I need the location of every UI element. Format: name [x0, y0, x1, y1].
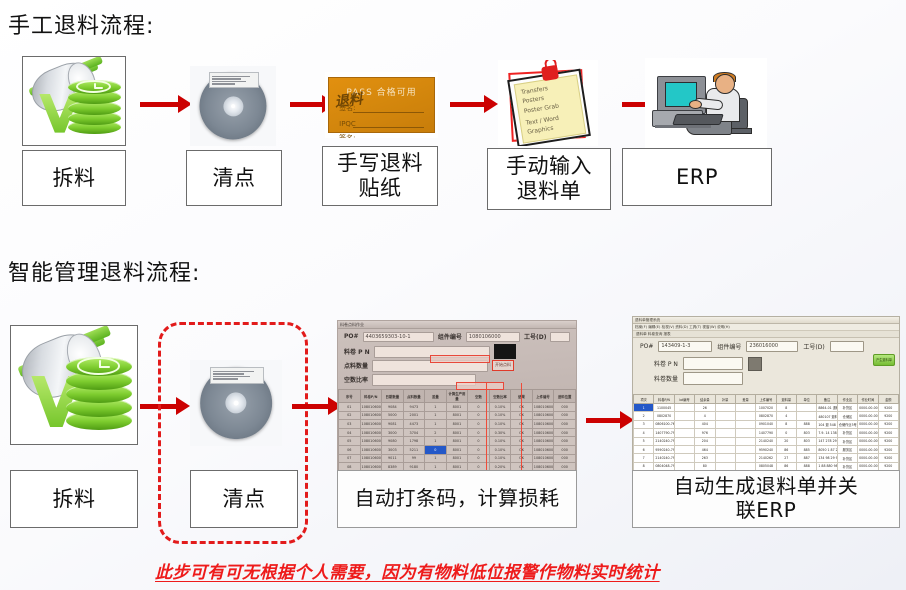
table-cell: 1080106003	[532, 428, 554, 437]
table-cell: 8050 1 87 2 97 1 98 548	[817, 445, 837, 453]
counting-assembly-label: 组件编号	[438, 332, 462, 341]
table-cell: 3704	[403, 428, 425, 437]
table-header-cell: 送料位置	[554, 390, 576, 403]
erp-po-label: PO#	[640, 343, 653, 350]
erp-qty-label: 料卷数量	[654, 374, 678, 383]
table-cell	[735, 404, 755, 412]
table-cell: 0802870	[654, 412, 674, 420]
table-cell: 4	[634, 429, 654, 437]
table-cell: 147 278 291 297 228 548	[817, 437, 837, 445]
table-cell: 9200	[878, 454, 899, 462]
table-cell	[674, 420, 694, 428]
table-cell: 8001	[446, 420, 468, 429]
table-cell: 803	[797, 429, 817, 437]
table-cell	[735, 454, 755, 462]
table-row[interactable]: 41407790-79019976140779008037.9. 14 138 …	[634, 429, 899, 437]
table-cell: 1080106005	[532, 445, 554, 454]
table-cell: 1080106003	[360, 428, 382, 437]
table-cell: 263	[695, 454, 715, 462]
counting-worker-label: 工号(D)	[524, 332, 546, 341]
table-cell: 803	[797, 437, 817, 445]
manual-step-5-image	[645, 58, 767, 148]
table-cell: 404	[695, 420, 715, 428]
table-cell: 9081	[382, 420, 404, 429]
table-cell: 7	[634, 454, 654, 462]
manual-step-3-label: 手写退料 贴纸	[322, 146, 438, 206]
manual-flow-title: 手工退料流程:	[8, 8, 154, 40]
smart-flow-title: 智能管理退料流程:	[8, 255, 200, 287]
table-cell	[715, 429, 735, 437]
table-cell	[735, 429, 755, 437]
table-cell	[735, 412, 755, 420]
table-cell: 1080106006	[360, 454, 382, 463]
table-cell: 0000-00-00 00:00	[858, 404, 878, 412]
table-cell: 99	[403, 454, 425, 463]
table-cell: 4473	[403, 420, 425, 429]
table-cell: 1080106005	[360, 445, 382, 454]
erp-app-screenshot: 退料单管理系统 档案(F) 编辑(E) 检视(V) 资料(D) 工具(T) 视窗…	[632, 316, 900, 478]
table-cell: 4	[776, 412, 796, 420]
table-cell	[797, 412, 817, 420]
table-cell: 8001	[446, 454, 468, 463]
table-cell: 9473	[403, 403, 425, 412]
slide-canvas: 手工退料流程: 拆料 清点 PASS 合格可用	[0, 0, 906, 590]
table-row[interactable]: 041080106003300037042800100.30%OK1080106…	[339, 428, 576, 437]
table-cell: 0901040	[756, 420, 776, 428]
table-row[interactable]: 52140240-79018204214024020803147 278 291…	[634, 437, 899, 445]
sticker-line3-label: 签名:	[339, 133, 355, 138]
counting-app-titlebar: 料卷点料作业	[338, 321, 576, 329]
manual-step-5-label: ERP	[622, 148, 772, 206]
erp-assembly-value[interactable]: 236016000	[746, 341, 798, 352]
table-header-cell: 单位	[797, 395, 817, 404]
table-cell: 9011	[382, 454, 404, 463]
table-cell: 000	[554, 445, 576, 454]
table-cell: 1080106004	[532, 437, 554, 446]
counting-table-header-row: 序号料卷P/N日期数量点料数量差量计算生产用量空数空数比率结果上件编号送料位置	[339, 390, 576, 403]
erp-pn-label: 料卷 P N	[654, 359, 678, 368]
table-header-cell: 作业时间	[858, 395, 878, 404]
table-cell: 2001	[403, 411, 425, 420]
table-cell: 1	[425, 411, 447, 420]
table-cell: 0000-00-00 00:00	[858, 429, 878, 437]
table-header-cell: 上件编号	[532, 390, 554, 403]
manual-step-2-image	[190, 66, 276, 146]
table-cell: 补货区	[837, 404, 857, 412]
table-cell: 000	[554, 437, 576, 446]
table-cell: 464	[695, 445, 715, 453]
table-cell: 9200	[878, 437, 899, 445]
table-cell: 1	[425, 420, 447, 429]
table-cell	[715, 454, 735, 462]
table-row[interactable]: 051080106004908017981800100.10%OK1080106…	[339, 437, 576, 446]
table-cell: 6	[634, 445, 654, 453]
counting-highlight-column	[486, 383, 522, 477]
table-cell	[715, 420, 735, 428]
table-cell: 1080106001	[532, 411, 554, 420]
erp-tabrow[interactable]: 退料单 料卷查询 报表	[633, 331, 899, 338]
counting-ratio-label: 空数比率	[344, 375, 368, 384]
sticker-line1-label: 签名:	[339, 103, 355, 113]
table-header-cell: 料卷P/N	[654, 395, 674, 404]
sticker-line2-label: IPQC	[339, 120, 356, 128]
table-row[interactable]: 20802870408028704480107 退料仓储区0000-00-00 …	[634, 412, 899, 420]
table-cell: 补货区	[837, 437, 857, 445]
table-cell: 86	[776, 445, 796, 453]
table-row[interactable]: 061080106005300352110800100.10%OK1080106…	[339, 445, 576, 454]
table-cell: 480107 退料	[817, 412, 837, 420]
manual-step-2-label: 清点	[186, 150, 282, 206]
table-header-cell: 金额	[878, 395, 899, 404]
table-cell: 885	[797, 445, 817, 453]
table-cell: 2140262	[756, 454, 776, 462]
table-cell: 27	[776, 454, 796, 462]
table-cell: 0000-00-00 00:00	[858, 412, 878, 420]
table-cell: 1080106006	[532, 454, 554, 463]
green-database-clock-icon	[23, 57, 125, 145]
table-cell: 2140240-79018	[654, 437, 674, 445]
table-cell	[735, 445, 755, 453]
table-cell: 104 退 548	[817, 420, 837, 428]
reel-photo	[190, 360, 282, 446]
erp-worker-label: 工号(D)	[803, 342, 824, 351]
table-cell: 7.9. 14 138 587-548	[817, 429, 837, 437]
table-header-cell: 退料量	[776, 395, 796, 404]
table-cell	[715, 412, 735, 420]
table-cell: 5	[634, 437, 654, 445]
table-cell: 1	[634, 404, 654, 412]
table-cell	[674, 412, 694, 420]
table-cell: 8	[776, 420, 796, 428]
table-cell	[674, 429, 694, 437]
table-cell: 0	[776, 429, 796, 437]
table-cell: 1100045	[654, 404, 674, 412]
table-cell: 9200	[878, 404, 899, 412]
erp-generate-button[interactable]: 产生退料单	[873, 354, 895, 366]
table-cell: 3000	[382, 428, 404, 437]
table-header-cell: 结余量	[695, 395, 715, 404]
counting-callout-1	[430, 355, 490, 363]
smart-step-1-label: 拆料	[10, 470, 138, 528]
table-cell	[735, 420, 755, 428]
table-row[interactable]: 021080106001500020011800100.10%OK1080106…	[339, 411, 576, 420]
table-cell: 9080	[382, 437, 404, 446]
table-header-cell: 差量	[425, 390, 447, 403]
table-header-cell: 作业区	[837, 395, 857, 404]
table-row[interactable]: 72140240-79666263214026227887134 98 29 9…	[634, 454, 899, 462]
table-cell: 仓储作业3号库	[837, 420, 857, 428]
table-header-cell: 差量	[735, 395, 755, 404]
erp-form: PO# 143409-1-3 组件编号 236016000 工号(D) 料卷 P…	[633, 338, 899, 394]
table-cell: 02	[339, 411, 361, 420]
table-cell: 5000	[382, 411, 404, 420]
table-cell: 887	[797, 454, 817, 462]
smart-step-1-image	[10, 325, 138, 445]
table-cell: 000	[554, 428, 576, 437]
table-cell: 0802870	[756, 412, 776, 420]
table-cell	[674, 445, 694, 453]
erp-table-header-row: 项次料卷P/Nlot编号结余量补量差量上件编号退料量单位备注作业区作业时间金额	[634, 395, 899, 404]
table-cell: 1080106002	[360, 420, 382, 429]
table-cell: 04	[339, 428, 361, 437]
table-cell: 1407790-79019	[654, 429, 674, 437]
table-cell: 2	[634, 412, 654, 420]
table-cell: 补货区	[837, 454, 857, 462]
table-cell: 0806100-76007	[654, 420, 674, 428]
table-cell	[715, 404, 735, 412]
smart-step-4-label: 自动生成退料单并关 联ERP	[632, 470, 900, 528]
erp-pn-value[interactable]	[683, 357, 743, 370]
counting-assembly-value[interactable]: 1080106000	[466, 332, 520, 342]
table-cell: 9200	[878, 445, 899, 453]
table-header-cell: 上件编号	[756, 395, 776, 404]
optional-step-note: 此步可有可无根据个人需要，因为有物料低位报警作物料实时统计	[155, 558, 660, 583]
counting-app-form: PO# 4403659303-10-1 组件编号 1080106000 工号(D…	[338, 329, 576, 389]
smart-step-2-image	[190, 360, 282, 446]
green-database-clock-icon	[11, 326, 137, 444]
table-cell: 0000-00-00 00:00	[858, 420, 878, 428]
table-cell: 06	[339, 445, 361, 454]
table-cell: 000	[554, 454, 576, 463]
table-row[interactable]: 1110004526100702088864-01 退料 9-548补货区000…	[634, 404, 899, 412]
table-cell: 1080106004	[360, 437, 382, 446]
table-row[interactable]: 011080106000908494731800100.10%OK1080106…	[339, 403, 576, 412]
table-cell: 000	[554, 411, 576, 420]
erp-po-value[interactable]: 143409-1-3	[658, 341, 712, 352]
table-cell: 仓储区	[837, 412, 857, 420]
reel-photo	[190, 66, 276, 146]
table-row[interactable]: 30806100-7600740409010408888104 退 548仓储作…	[634, 420, 899, 428]
table-cell: 0	[425, 445, 447, 454]
table-cell: 3003	[382, 445, 404, 454]
table-cell: 8864-01 退料 9-548	[817, 404, 837, 412]
person-at-computer-icon	[645, 58, 767, 148]
counting-table-body: 011080106000908494731800100.10%OK1080106…	[339, 403, 576, 479]
table-cell: 4	[695, 412, 715, 420]
counting-po-value[interactable]: 4403659303-10-1	[363, 332, 434, 342]
table-cell: 204	[695, 437, 715, 445]
table-cell	[715, 445, 735, 453]
table-cell: 888	[797, 420, 817, 428]
table-cell: 20	[776, 437, 796, 445]
table-cell: 9200	[878, 412, 899, 420]
table-cell: 服务区	[837, 445, 857, 453]
smart-step-2-label: 清点	[190, 470, 298, 528]
table-cell: 3	[634, 420, 654, 428]
table-header-cell: 计算生产用量	[446, 390, 468, 403]
table-cell: 1	[425, 454, 447, 463]
erp-assembly-label: 组件编号	[717, 342, 741, 351]
table-cell: 0000-00-00 00:00	[858, 454, 878, 462]
table-cell: 8001	[446, 445, 468, 454]
erp-menubar: 档案(F) 编辑(E) 检视(V) 资料(D) 工具(T) 视窗(W) 说明(H…	[633, 324, 899, 331]
table-cell: 05	[339, 437, 361, 446]
table-cell: 1080106001	[360, 411, 382, 420]
table-cell: 1407790	[756, 429, 776, 437]
erp-table-body: 1110004526100702088864-01 退料 9-548补货区000…	[634, 404, 899, 471]
table-cell: 9200	[878, 420, 899, 428]
erp-app-table[interactable]: 项次料卷P/Nlot编号结余量补量差量上件编号退料量单位备注作业区作业时间金额 …	[633, 394, 899, 471]
table-cell: 1080106000	[532, 403, 554, 412]
table-cell: 1007020	[756, 404, 776, 412]
table-cell: 2	[425, 428, 447, 437]
table-cell: 000	[554, 420, 576, 429]
table-cell: 9590240	[756, 445, 776, 453]
manual-step-1-label: 拆料	[22, 150, 126, 206]
table-cell: 9084	[382, 403, 404, 412]
orange-pass-sticker: PASS 合格可用 退料 签名: IPQC 签名:	[325, 72, 438, 138]
table-cell: 补货区	[837, 429, 857, 437]
table-cell: 5211	[403, 445, 425, 454]
manual-step-4-image: Transfers Posters Poster Grab Text / Wor…	[498, 60, 598, 146]
counting-qty-label: 点料数量	[344, 361, 368, 370]
smart-step-3-label: 自动打条码，计算损耗	[337, 470, 577, 528]
table-cell	[735, 437, 755, 445]
table-cell: 8001	[446, 428, 468, 437]
table-cell: 8	[776, 404, 796, 412]
table-cell: 9200	[878, 429, 899, 437]
table-header-cell: 备注	[817, 395, 837, 404]
table-cell: 1798	[403, 437, 425, 446]
table-cell: 01	[339, 403, 361, 412]
table-cell: 9590240-79009	[654, 445, 674, 453]
erp-titlebar: 退料单管理系统	[633, 317, 899, 324]
table-cell	[674, 454, 694, 462]
table-cell: 2140240-79666	[654, 454, 674, 462]
manual-step-3-image: PASS 合格可用 退料 签名: IPQC 签名:	[325, 72, 438, 138]
erp-lookup-button[interactable]	[748, 357, 762, 371]
manual-step-4-label: 手动输入 退料单	[487, 148, 611, 210]
table-cell: 03	[339, 420, 361, 429]
table-cell: 1080106000	[360, 403, 382, 412]
table-header-cell: 序号	[339, 390, 361, 403]
table-cell: 8001	[446, 411, 468, 420]
table-cell: 8001	[446, 403, 468, 412]
table-cell: 000	[554, 403, 576, 412]
table-header-cell: 项次	[634, 395, 654, 404]
table-cell	[715, 437, 735, 445]
manual-step-1-image	[22, 56, 126, 146]
table-row[interactable]: 69590240-790094649590240868858050 1 87 2…	[634, 445, 899, 453]
counting-app-table[interactable]: 序号料卷P/N日期数量点料数量差量计算生产用量空数空数比率结果上件编号送料位置 …	[338, 389, 576, 478]
table-header-cell: lot编号	[674, 395, 694, 404]
table-cell: 1	[425, 403, 447, 412]
table-cell: 0000-00-00 00:00	[858, 445, 878, 453]
table-cell: 8001	[446, 437, 468, 446]
table-row[interactable]: 031080106002908144731800100.10%OK1080106…	[339, 420, 576, 429]
table-cell: 07	[339, 454, 361, 463]
erp-qty-value[interactable]	[683, 372, 743, 385]
table-cell: 2140240	[756, 437, 776, 445]
table-cell: 976	[695, 429, 715, 437]
counting-worker-value[interactable]	[550, 332, 570, 342]
table-cell: 134 98 29 98 28 548	[817, 454, 837, 462]
table-cell: 1080106002	[532, 420, 554, 429]
counting-start-button[interactable]: 开始点料	[492, 360, 514, 371]
table-cell	[674, 437, 694, 445]
table-cell: 0000-00-00 00:00	[858, 437, 878, 445]
table-cell: 1	[425, 437, 447, 446]
counting-pn-label: 料卷 P N	[344, 347, 370, 356]
counting-po-label: PO#	[344, 333, 359, 340]
table-header-cell: 料卷P/N	[360, 390, 382, 403]
table-cell	[797, 404, 817, 412]
table-header-cell: 日期数量	[382, 390, 404, 403]
table-cell	[674, 404, 694, 412]
table-header-cell: 补量	[715, 395, 735, 404]
table-header-cell: 点料数量	[403, 390, 425, 403]
clipboard-note-icon: Transfers Posters Poster Grab Text / Wor…	[498, 60, 598, 146]
table-cell: 26	[695, 404, 715, 412]
table-row[interactable]: 0710801060069011991800100.10%OK108010600…	[339, 454, 576, 463]
counting-scanner-preview	[494, 344, 516, 359]
counting-app-screenshot: 料卷点料作业 PO# 4403659303-10-1 组件编号 10801060…	[337, 320, 577, 478]
erp-worker-value[interactable]	[830, 341, 864, 352]
